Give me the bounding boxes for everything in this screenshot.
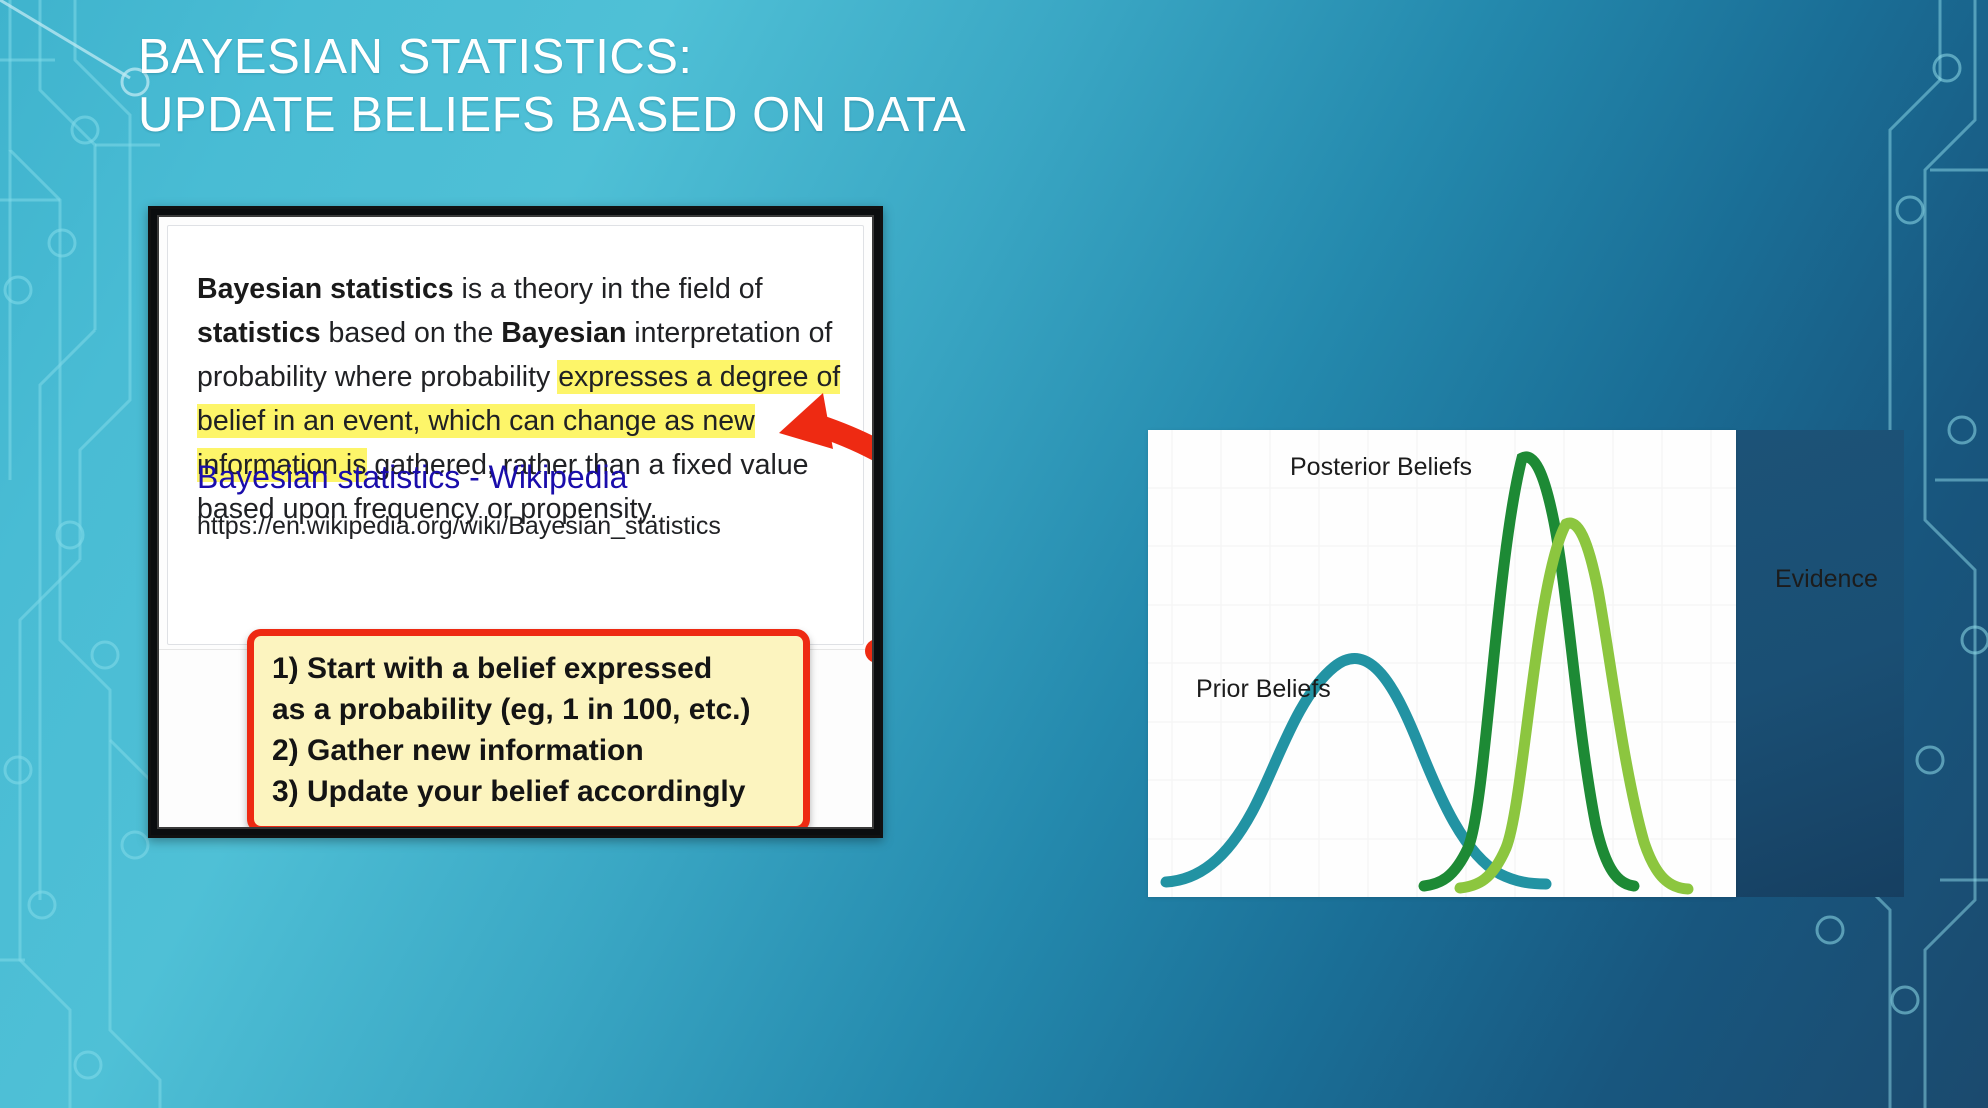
list-item: 3) Update your belief accordingly — [272, 771, 785, 812]
snippet-text-2: is a theory in the field of — [454, 273, 763, 305]
instructions-callout: 1) Start with a belief expressed as a pr… — [247, 629, 810, 829]
chart-label-posterior-beliefs: Posterior Beliefs — [1290, 453, 1472, 482]
slide-canvas: Bayesian Statistics: Update Beliefs Base… — [0, 0, 1988, 1108]
page-title: Bayesian Statistics: Update Beliefs Base… — [138, 28, 1238, 144]
result-link-title[interactable]: Bayesian statistics - Wikipedia — [197, 457, 627, 497]
search-result-screenshot-frame: Bayesian statistics is a theory in the f… — [148, 206, 883, 838]
bayesian-distribution-chart — [1148, 430, 1736, 897]
chart-right-navy-band — [1736, 430, 1904, 897]
snippet-bold-5: Bayesian — [501, 317, 626, 349]
chart-label-evidence: Evidence — [1775, 565, 1878, 594]
search-result-screenshot: Bayesian statistics is a theory in the f… — [157, 215, 874, 829]
list-item: as a probability (eg, 1 in 100, etc.) — [272, 689, 785, 730]
snippet-bold-3: statistics — [197, 317, 321, 349]
snippet-text-4: based on the — [321, 317, 502, 349]
list-item: 1) Start with a belief expressed — [272, 648, 785, 689]
list-item: 2) Gather new information — [272, 730, 785, 771]
title-line-2: Update Beliefs Based on Data — [138, 86, 1238, 144]
title-line-1: Bayesian Statistics: — [138, 30, 693, 84]
result-url[interactable]: https://en.wikipedia.org/wiki/Bayesian_s… — [197, 509, 721, 543]
instructions-list: 1) Start with a belief expressed as a pr… — [272, 648, 785, 812]
snippet-bold-1: Bayesian statistics — [197, 273, 454, 305]
chart-label-prior-beliefs: Prior Beliefs — [1196, 675, 1331, 704]
